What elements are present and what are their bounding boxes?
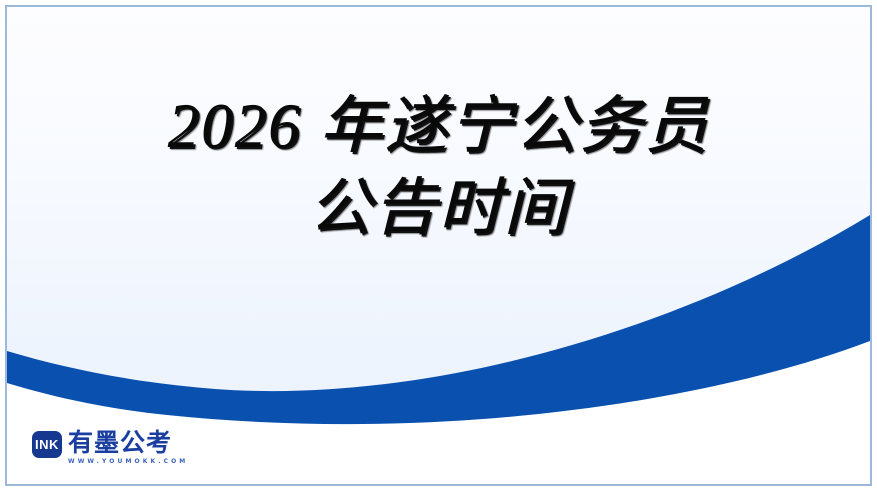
brand-url: WWW.YOUMOKK.COM bbox=[68, 457, 188, 466]
brand-name: 有墨公考 bbox=[68, 430, 188, 456]
banner-headline: 2026 年遂宁公务员 公告时间 bbox=[7, 85, 870, 249]
banner-artboard: 2026 年遂宁公务员 公告时间 INK 有墨公考 WWW.YOUMOKK.CO… bbox=[7, 7, 870, 484]
brand-logo-text: 有墨公考 WWW.YOUMOKK.COM bbox=[68, 430, 188, 466]
ink-badge-icon: INK bbox=[32, 431, 62, 458]
headline-line-2: 公告时间 bbox=[7, 167, 870, 249]
headline-line-1: 2026 年遂宁公务员 bbox=[7, 85, 870, 167]
promo-banner: 2026 年遂宁公务员 公告时间 INK 有墨公考 WWW.YOUMOKK.CO… bbox=[0, 0, 877, 491]
brand-logo[interactable]: INK 有墨公考 WWW.YOUMOKK.COM bbox=[32, 430, 188, 466]
